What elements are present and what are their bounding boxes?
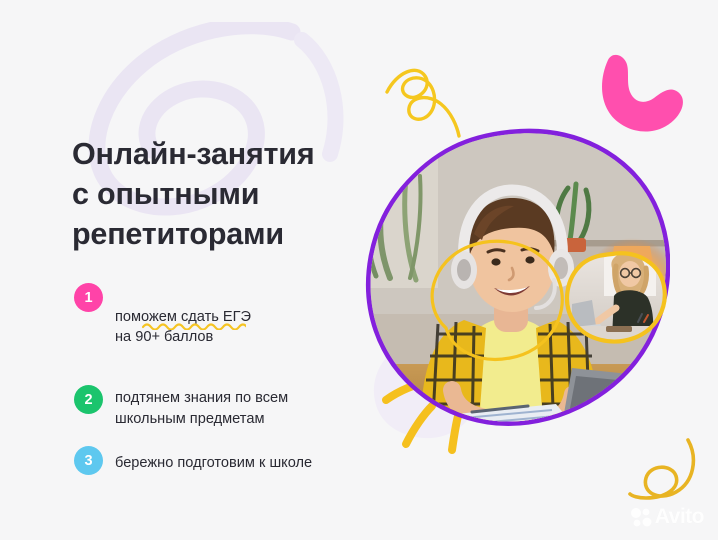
bullet-number-badge: 1	[74, 283, 103, 312]
promo-banner: Онлайн-занятия с опытными репетиторами 1…	[0, 0, 718, 540]
list-item: 3 бережно подготовим к школе	[74, 445, 394, 475]
yellow-squiggle-bottom-icon	[628, 436, 706, 504]
list-item: 1 поможем сдать ЕГЭ на 90+ баллов	[74, 282, 394, 368]
benefits-list: 1 поможем сдать ЕГЭ на 90+ баллов 2 подт…	[74, 282, 394, 475]
bullet-text: поможем сдать ЕГЭ на 90+ баллов	[115, 286, 251, 368]
bullet-number-badge: 3	[74, 446, 103, 475]
page-title: Онлайн-занятия с опытными репетиторами	[72, 134, 402, 254]
pink-crescent-icon	[592, 52, 688, 138]
avito-wordmark: Avito	[655, 506, 704, 528]
list-item: 2 подтянем знания по всем школьным предм…	[74, 384, 394, 429]
wavy-underline-icon	[142, 322, 246, 330]
bullet-text: бережно подготовим к школе	[115, 453, 312, 474]
bullet-number-badge: 2	[74, 385, 103, 414]
avito-watermark: Avito	[630, 506, 704, 528]
avito-logo-icon	[630, 506, 652, 528]
yellow-squiggle-top-icon	[383, 60, 469, 138]
student-photo	[360, 128, 670, 436]
bullet-text: подтянем знания по всем школьным предмет…	[115, 388, 288, 429]
